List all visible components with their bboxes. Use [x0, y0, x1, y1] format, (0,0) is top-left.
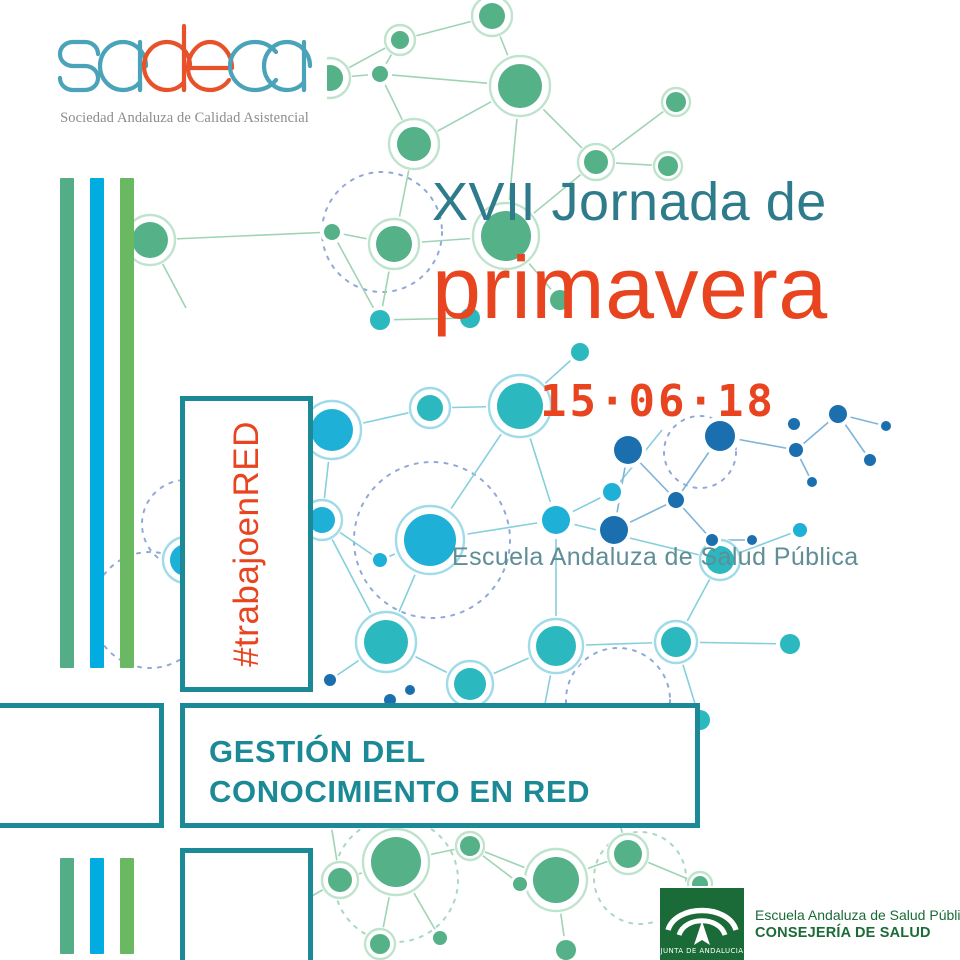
color-bar-cyan [90, 178, 104, 668]
page-title-line1: XVII Jornada de [432, 172, 902, 232]
theme-line2: CONOCIMIENTO EN RED [209, 772, 590, 812]
sadeca-logo: Sociedad Andaluza de Calidad Asistencial [42, 18, 327, 158]
poster-canvas: .ln-g{stroke:#9fd3b5;stroke-width:1.6;fi… [0, 0, 960, 960]
theme-text-block: GESTIÓN DEL CONOCIMIENTO EN RED [209, 732, 590, 812]
color-bar-cyan-2 [90, 858, 104, 954]
junta-line2: CONSEJERÍA DE SALUD [755, 924, 960, 942]
page-title-line2: primavera [432, 240, 902, 336]
sadeca-tagline: Sociedad Andaluza de Calidad Asistencial [42, 110, 327, 127]
junta-mark-label: JUNTA DE ANDALUCIA [660, 947, 744, 955]
junta-text-block: Escuela Andaluza de Salud Pública CONSEJ… [744, 888, 960, 942]
hashtag-label: #trabajoenRED [228, 421, 266, 667]
color-bar-lightgreen [120, 178, 134, 668]
decorative-box-left [0, 703, 164, 828]
color-bars-bottom [60, 858, 134, 954]
junta-arches-icon: JUNTA DE ANDALUCIA [660, 888, 744, 960]
edges-blue-right [614, 414, 886, 540]
color-bar-lightgreen-2 [120, 858, 134, 954]
color-bar-green-2 [60, 858, 74, 954]
sadeca-wordmark-icon [54, 24, 316, 106]
color-bars-top [60, 178, 134, 668]
theme-box: GESTIÓN DEL CONOCIMIENTO EN RED [180, 703, 700, 828]
color-bar-green [60, 178, 74, 668]
decorative-box-bottom [180, 848, 313, 960]
junta-line1: Escuela Andaluza de Salud Pública [755, 907, 960, 924]
hashtag-box: #trabajoenRED [180, 396, 313, 692]
event-date: 15·06·18 [540, 378, 776, 426]
theme-line1: GESTIÓN DEL [209, 732, 590, 772]
event-venue: Escuela Andaluza de Salud Pública [452, 542, 859, 572]
junta-de-andalucia-logo: JUNTA DE ANDALUCIA Escuela Andaluza de S… [658, 886, 960, 960]
